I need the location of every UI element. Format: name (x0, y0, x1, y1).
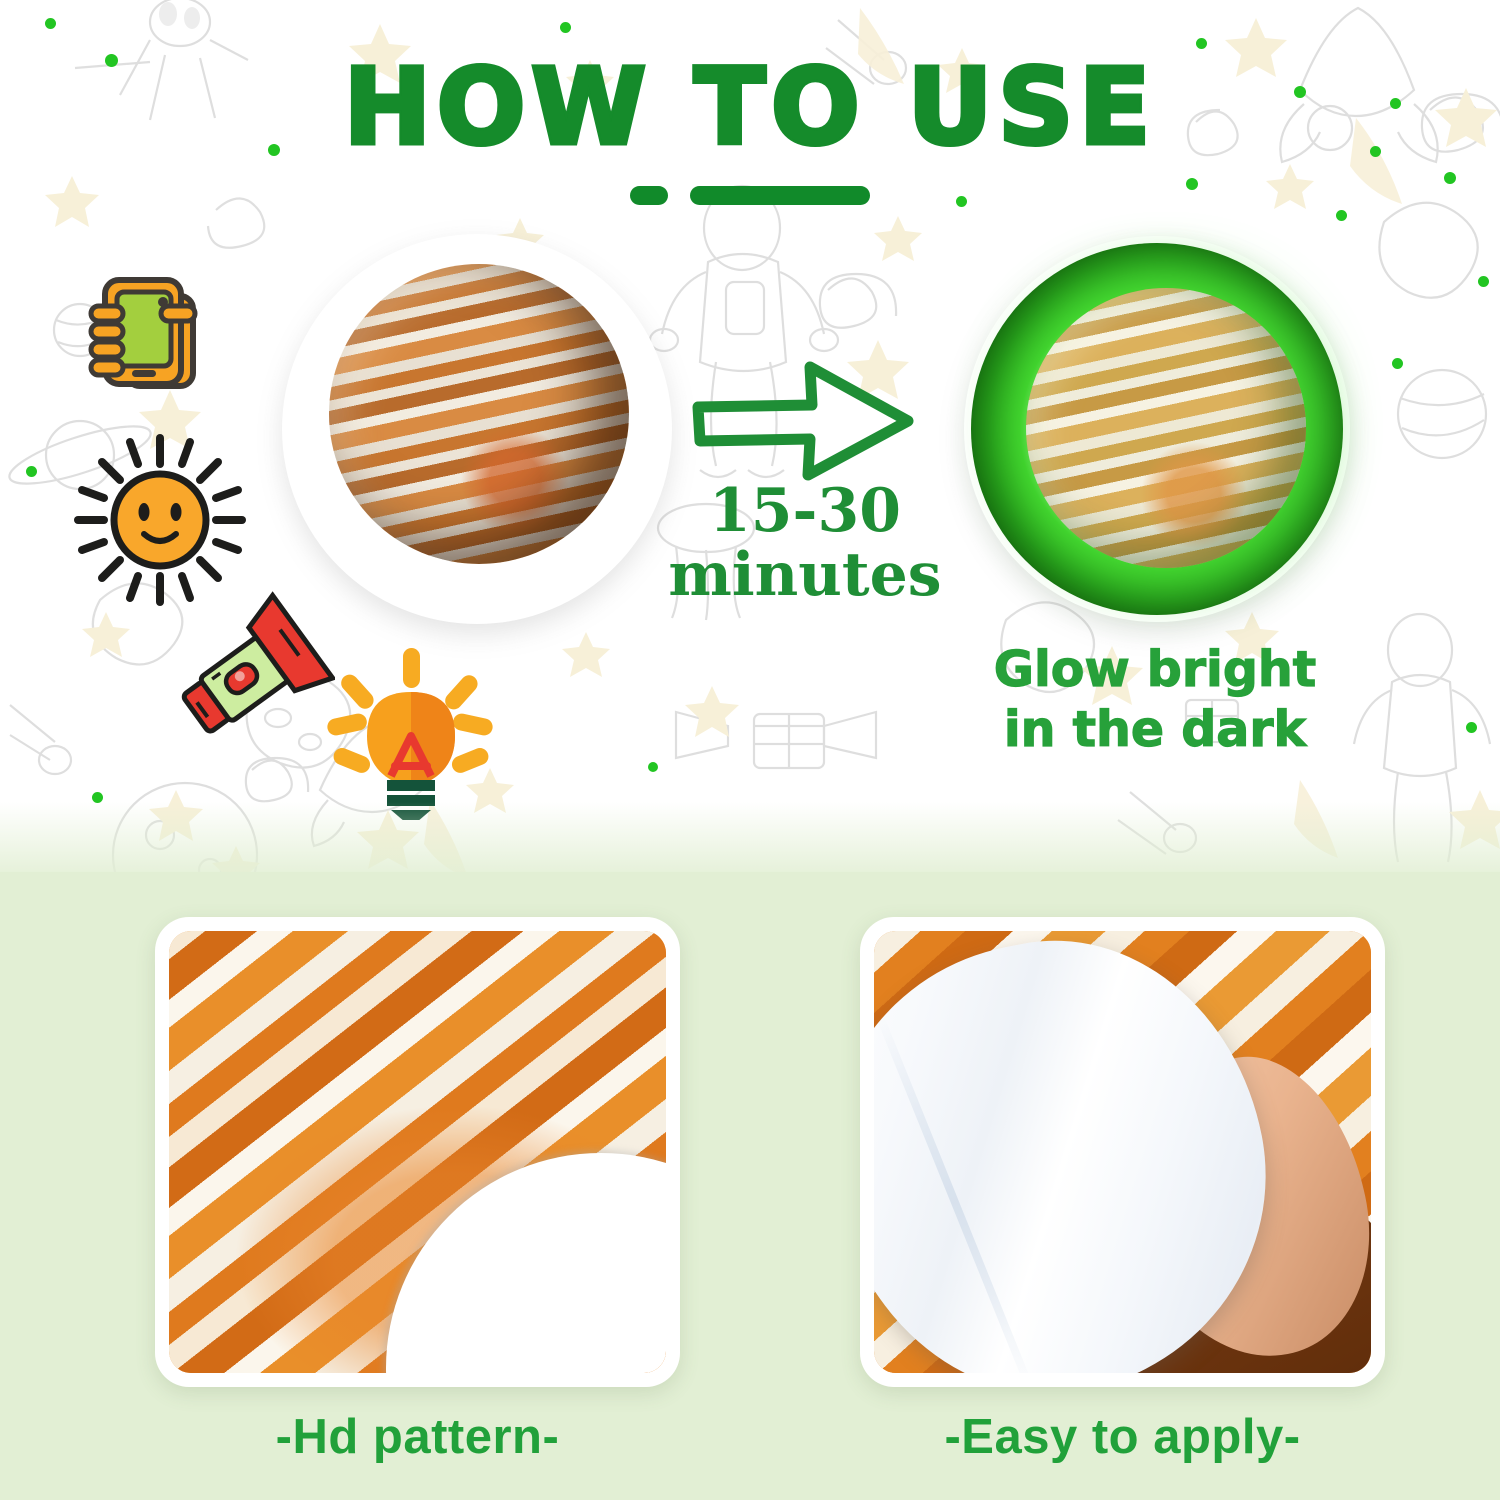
product-detail-section: -Hd pattern- -Easy to apply- (0, 872, 1500, 1500)
easy-to-apply-caption: -Easy to apply- (860, 1409, 1385, 1465)
light-bulb-icon (325, 640, 495, 820)
underline-dash (690, 186, 870, 205)
planet-sticker-glowing (964, 236, 1350, 622)
page-title-block: HOW TO USE (0, 55, 1500, 205)
charge-time-line-1: 15-30 (640, 480, 970, 544)
hd-pattern-card (155, 917, 680, 1387)
section-gradient-fade (0, 802, 1500, 872)
glow-caption-line-2: in the dark (955, 700, 1355, 760)
jupiter-image-glowing (1026, 288, 1306, 568)
right-arrow-icon (690, 355, 920, 485)
charge-time-label: 15-30 minutes (640, 480, 970, 607)
planet-sticker-daylight (282, 234, 672, 624)
hd-pattern-caption: -Hd pattern- (155, 1409, 680, 1465)
easy-to-apply-card (860, 917, 1385, 1387)
phone-flashlight-icon (75, 262, 215, 402)
page-title: HOW TO USE (0, 55, 1500, 159)
flashlight-icon (165, 590, 335, 760)
glow-caption-line-1: Glow bright (955, 640, 1355, 700)
peel-backing-photo (874, 931, 1371, 1373)
charge-time-line-2: minutes (640, 544, 970, 608)
title-underline (630, 185, 870, 205)
jupiter-image-daylight (329, 264, 629, 564)
sun-icon (70, 430, 250, 610)
glow-ring (971, 243, 1343, 615)
underline-dot (630, 186, 668, 205)
hd-pattern-photo (169, 931, 666, 1373)
glow-caption: Glow bright in the dark (955, 640, 1355, 760)
backing-crease (876, 1015, 1033, 1373)
how-to-use-section: HOW TO USE (0, 0, 1500, 872)
